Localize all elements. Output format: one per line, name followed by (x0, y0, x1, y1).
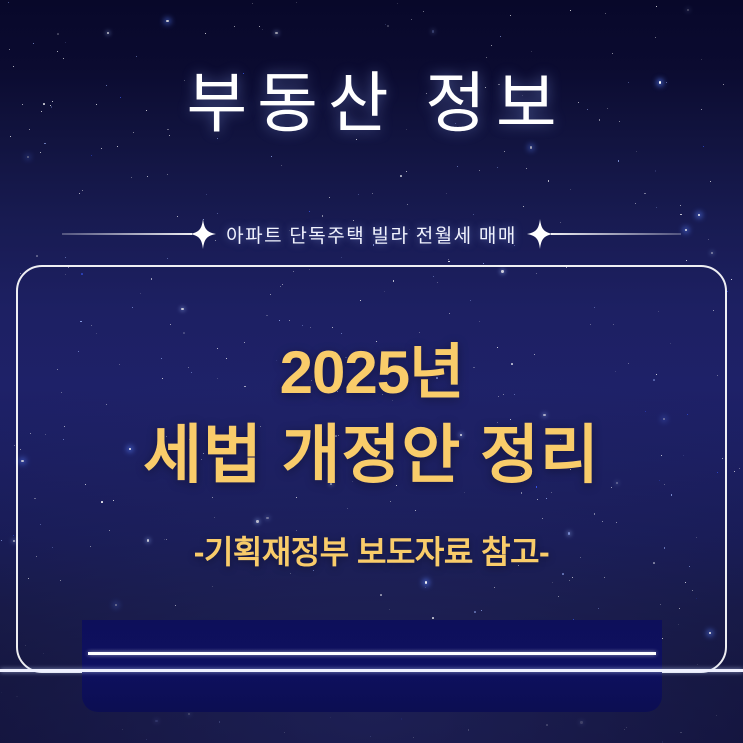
page-title: 부동산 정보 (0, 66, 743, 144)
headline: 2025년 세법 개정안 정리 (0, 333, 743, 499)
sparkle-star-icon (527, 219, 553, 249)
bottom-plate (82, 620, 662, 712)
subtitle-text: 아파트 단독주택 빌라 전월세 매매 (214, 221, 529, 248)
full-width-accent-line (0, 669, 743, 672)
headline-line-1: 2025년 (0, 333, 743, 413)
source-note: -기획재정부 보도자료 참고- (0, 527, 743, 573)
subtitle-row: 아파트 단독주택 빌라 전월세 매매 (62, 219, 681, 249)
poster-canvas: 부동산 정보 아파트 단독주택 빌라 전월세 매매 2025년 세법 개정안 정… (0, 0, 743, 743)
sparkle-star-icon (190, 219, 216, 249)
headline-line-2: 세법 개정안 정리 (0, 413, 743, 499)
plate-accent-line (88, 652, 656, 655)
divider-line-right (551, 233, 681, 235)
divider-line-left (62, 233, 192, 235)
